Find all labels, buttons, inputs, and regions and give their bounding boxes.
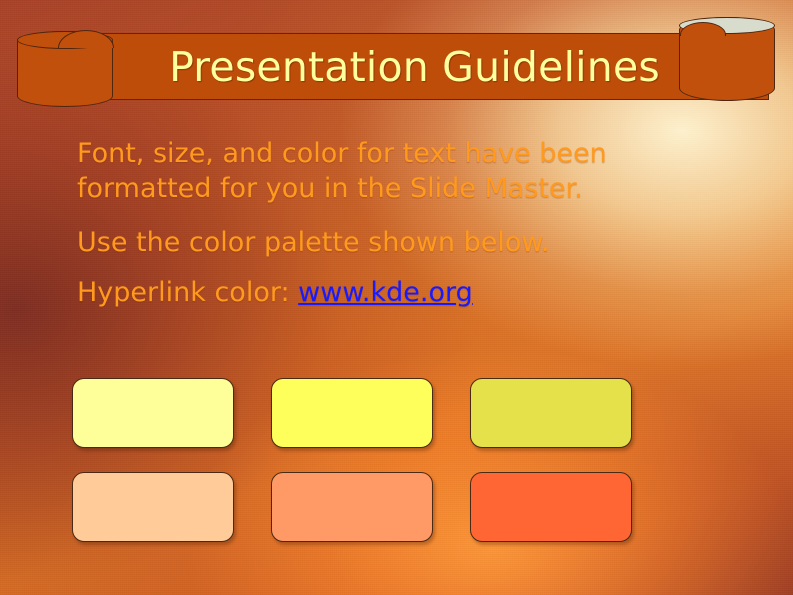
hyperlink-label: Hyperlink color:	[77, 277, 298, 308]
body-paragraph-1: Font, size, and color for text have been…	[77, 136, 717, 206]
color-swatch-pale-peach[interactable]	[72, 472, 234, 542]
page-title: Presentation Guidelines	[60, 33, 769, 100]
title-banner: Presentation Guidelines	[0, 0, 793, 120]
color-swatch-red-orange[interactable]	[470, 472, 632, 542]
body-paragraph-hyperlink: Hyperlink color: www.kde.org	[77, 275, 717, 310]
color-swatch-bright-yellow[interactable]	[271, 378, 433, 448]
color-swatch-pale-yellow[interactable]	[72, 378, 234, 448]
palette-row-orange	[72, 472, 632, 542]
kde-hyperlink[interactable]: www.kde.org	[298, 277, 473, 308]
color-swatch-olive-yellow[interactable]	[470, 378, 632, 448]
body-paragraph-2: Use the color palette shown below.	[77, 225, 717, 260]
palette-row-yellow	[72, 378, 632, 448]
presentation-slide: Presentation Guidelines Font, size, and …	[0, 0, 793, 595]
slide-body: Font, size, and color for text have been…	[77, 136, 717, 325]
color-palette	[72, 378, 632, 566]
color-swatch-salmon-orange[interactable]	[271, 472, 433, 542]
